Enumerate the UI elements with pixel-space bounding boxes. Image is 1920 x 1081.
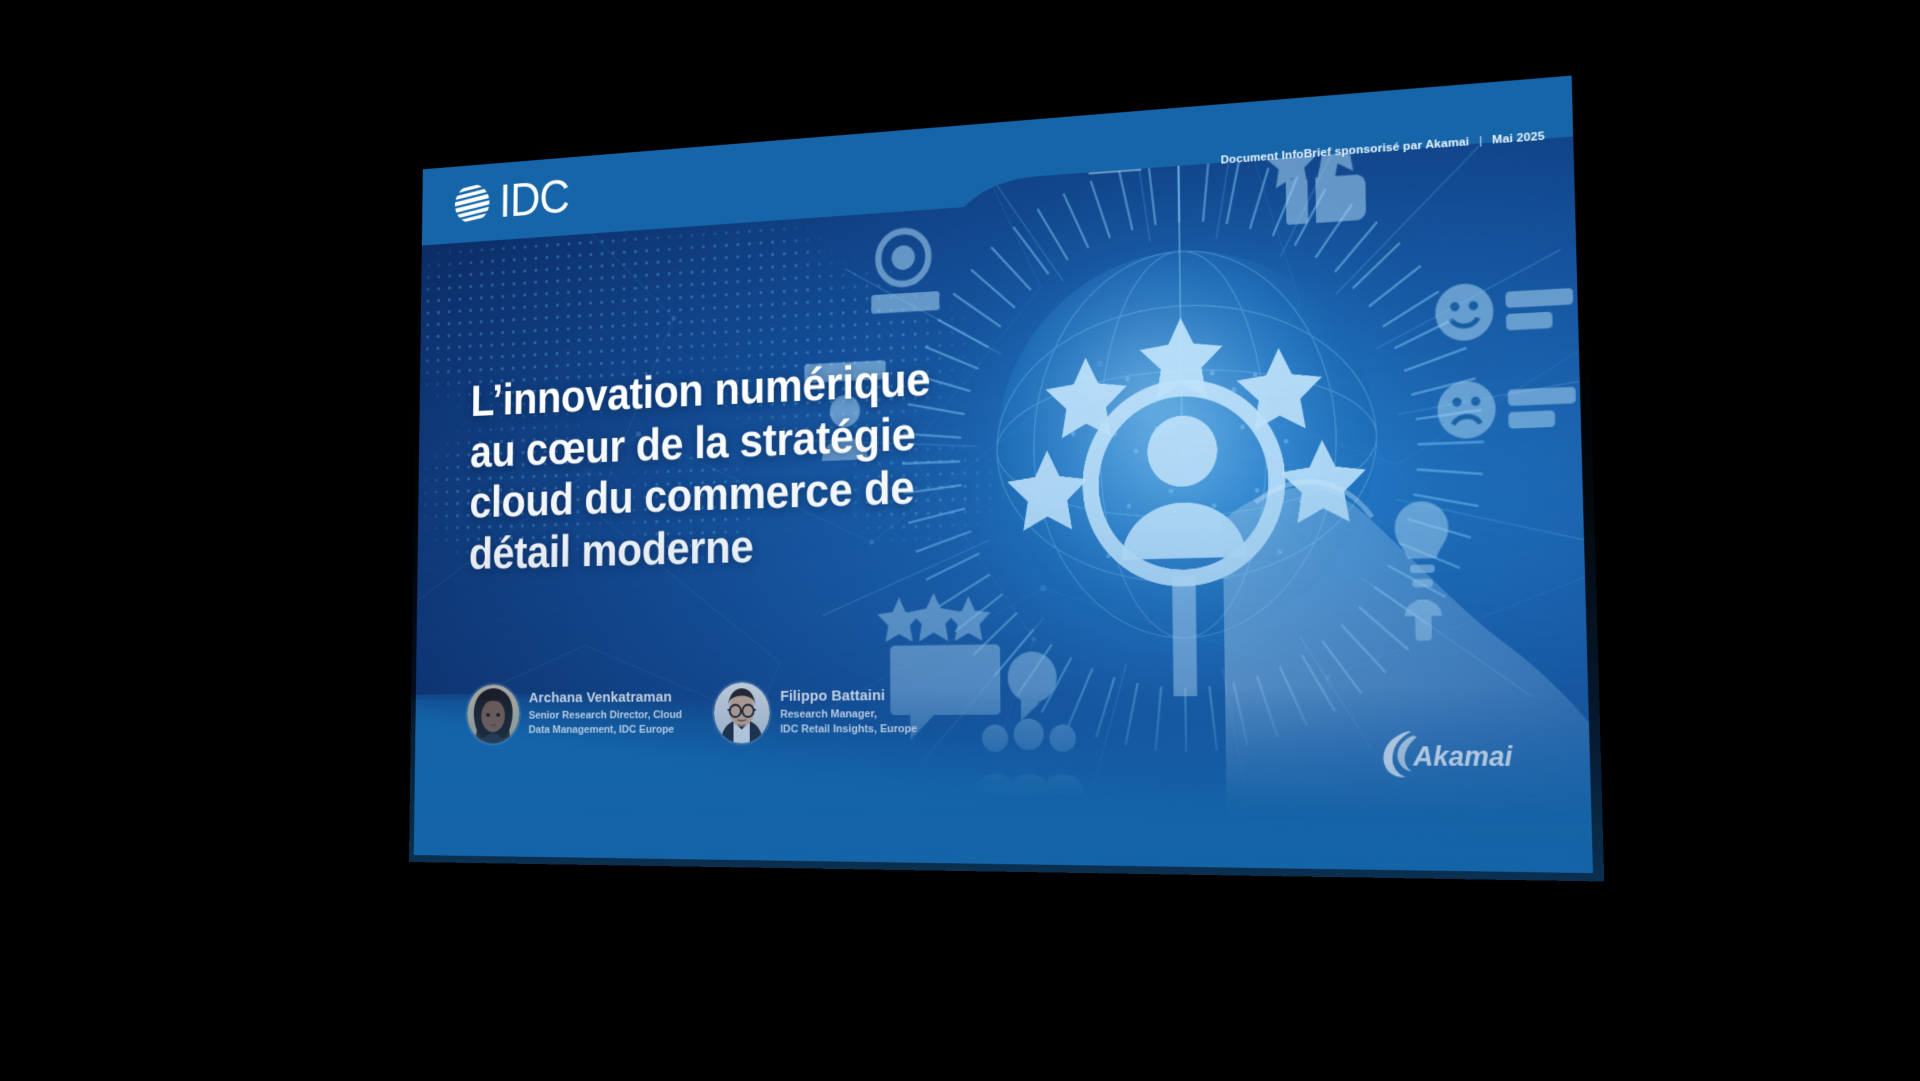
five-star-rating-icon [1006,307,1367,531]
user-avatar-icon [1090,383,1281,696]
meta-separator: | [1479,135,1483,148]
thumbs-up-stars-icon [1264,118,1366,226]
presentation-stage: IDC Document InfoBrief sponsorisé par Ak… [0,0,1920,1081]
avatar-archana-venkatraman [467,684,520,743]
header-band-shape [422,76,1574,246]
svg-text:Akamai: Akamai [1412,742,1514,773]
author-name: Filippo Battaini [780,686,917,705]
author-text: Archana Venkatraman Senior Research Dire… [528,688,682,738]
page-title: L’innovation numérique au cœur de la str… [469,351,968,580]
author-card: Archana Venkatraman Senior Research Dire… [467,683,682,744]
document-meta: Document InfoBrief sponsorisé par Akamai… [1220,130,1544,166]
author-card: Filippo Battaini Research Manager, IDC R… [714,681,917,743]
avatar-image [467,684,520,743]
infobrief-cover-slide: IDC Document InfoBrief sponsorisé par Ak… [414,76,1593,874]
hand-pointing-icon [1221,471,1593,873]
authors-list: Archana Venkatraman Senior Research Dire… [467,681,918,744]
lightbulb-idea-icon [1394,500,1451,641]
author-role: Senior Research Director, Cloud Data Man… [528,708,682,738]
author-role: Research Manager, IDC Retail Insights, E… [780,707,917,738]
akamai-wave-logo: Akamai [1377,726,1517,780]
avatar-filippo-battaini [714,682,770,743]
akamai-logo[interactable]: Akamai [1377,726,1517,780]
idc-logo-text: IDC [499,173,569,224]
person-rating-icon [1073,76,1155,176]
slide-3d-wrapper: IDC Document InfoBrief sponsorisé par Ak… [414,76,1593,874]
slide-header-band [422,76,1574,246]
idc-globe-icon [451,179,493,228]
publication-date: Mai 2025 [1492,130,1545,146]
author-text: Filippo Battaini Research Manager, IDC R… [780,686,917,737]
award-badge-five-stars-icon [871,228,939,313]
avatar-image [714,682,770,743]
author-name: Archana Venkatraman [529,688,682,707]
smiley-sad-face-survey-icon [1434,277,1576,439]
title-line-4: détail moderne [469,520,754,578]
idc-logo[interactable]: IDC [451,170,569,230]
sponsor-line: Document InfoBrief sponsorisé par Akamai [1220,136,1469,167]
question-bubble-icon [1007,651,1056,720]
group-of-people-icon [974,718,1084,796]
